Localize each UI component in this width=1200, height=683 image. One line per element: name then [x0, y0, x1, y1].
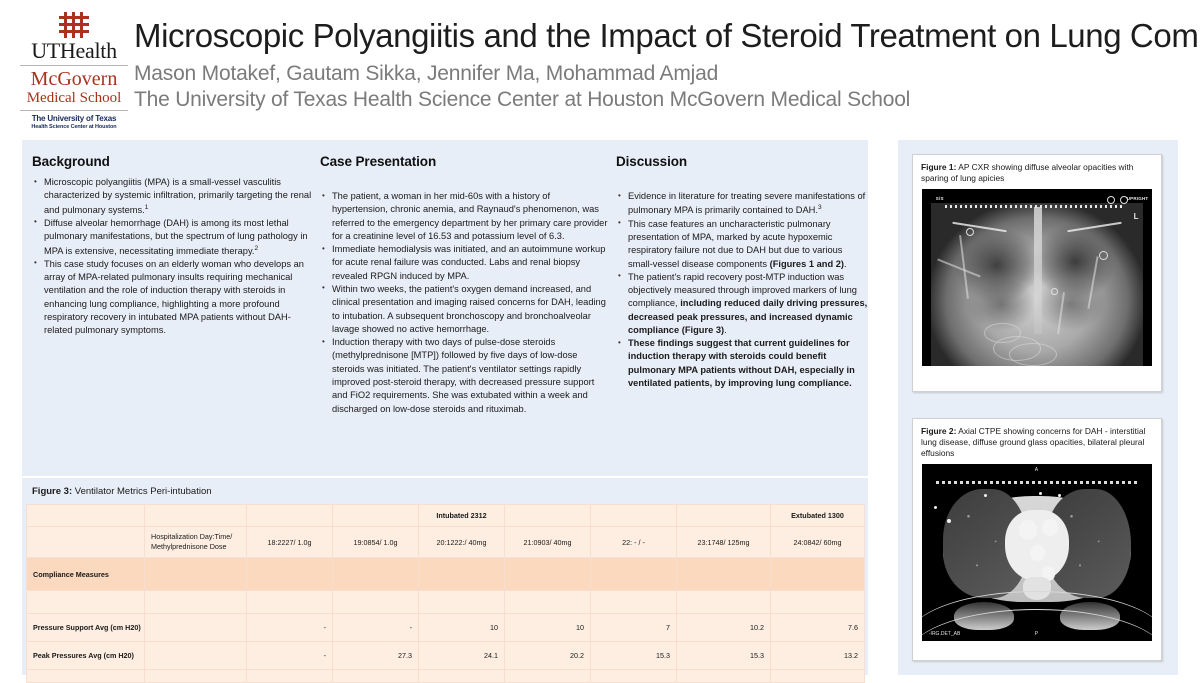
- logo-health-science-center-text: Health Science Center at Houston: [18, 124, 130, 130]
- cxr-spine: [1034, 207, 1042, 334]
- extubated-marker: Extubated 1300: [771, 505, 865, 527]
- empty-cell: [591, 505, 677, 527]
- title-block: Microscopic Polyangiitis and the Impact …: [134, 18, 1174, 112]
- list-item: These findings suggest that current guid…: [616, 337, 868, 390]
- list-item: Induction therapy with two days of pulse…: [320, 336, 608, 416]
- citation-marker: 3: [818, 204, 822, 211]
- empty-cell: [145, 642, 247, 670]
- table-row: [27, 670, 865, 683]
- uthealth-logo: UTHealth McGovern Medical School The Uni…: [18, 12, 130, 130]
- list-item: Immediate hemodialysis was initiated, an…: [320, 243, 608, 283]
- empty-cell: [419, 591, 505, 614]
- case-presentation-heading: Case Presentation: [320, 154, 608, 169]
- metric-value: -: [247, 614, 333, 642]
- author-list: Mason Motakef, Gautam Sikka, Jennifer Ma…: [134, 61, 1174, 87]
- list-item: Microscopic polyangiitis (MPA) is a smal…: [32, 176, 312, 217]
- empty-cell: [771, 591, 865, 614]
- logo-divider-top: [20, 65, 128, 66]
- empty-cell: [505, 670, 591, 683]
- section-case-presentation: Case Presentation The patient, a woman i…: [320, 154, 608, 416]
- intubated-marker: Intubated 2312: [419, 505, 505, 527]
- empty-cell: [27, 527, 145, 558]
- table-row: Pressure Support Avg (cm H20)--1010710.2…: [27, 614, 865, 642]
- empty-cell: [247, 558, 333, 591]
- list-item: The patient, a woman in her mid-60s with…: [320, 190, 608, 243]
- empty-cell: [591, 591, 677, 614]
- empty-cell: [771, 558, 865, 591]
- discussion-bullet-list: Evidence in literature for treating seve…: [616, 190, 868, 390]
- metric-value: -: [333, 614, 419, 642]
- cxr-upright-marker: UPRIGHT: [1127, 196, 1149, 201]
- uthealth-logo-mark-icon: [59, 12, 89, 38]
- metric-value: 7: [591, 614, 677, 642]
- table-row: [27, 591, 865, 614]
- list-item: This case study focuses on an elderly wo…: [32, 258, 312, 338]
- compliance-measures-label: Compliance Measures: [27, 558, 145, 591]
- figure2-ct-scan-image: A -IRG.DET_AB P: [922, 464, 1152, 641]
- column-header: 22: - / -: [591, 527, 677, 558]
- empty-cell: [677, 558, 771, 591]
- figure3-panel: Figure 3: Ventilator Metrics Peri-intuba…: [22, 478, 868, 675]
- affiliation-line: The University of Texas Health Science C…: [134, 87, 1174, 113]
- body-text: .: [724, 325, 727, 335]
- empty-cell: [27, 670, 145, 683]
- empty-cell: [505, 591, 591, 614]
- metric-value: -: [247, 642, 333, 670]
- list-item: Within two weeks, the patient's oxygen d…: [320, 283, 608, 336]
- citation-marker: 2: [254, 245, 258, 252]
- empty-cell: [419, 670, 505, 683]
- empty-cell: [27, 505, 145, 527]
- table-row: Compliance Measures: [27, 558, 865, 591]
- table-row: Intubated 2312Extubated 1300: [27, 505, 865, 527]
- column-header: 24:0842/ 60mg: [771, 527, 865, 558]
- metric-value: 15.3: [591, 642, 677, 670]
- list-item: The patient's rapid recovery post-MTP in…: [616, 271, 868, 337]
- metric-value: 13.2: [771, 642, 865, 670]
- empty-cell: [677, 591, 771, 614]
- empty-cell: [145, 505, 247, 527]
- figure2-card: Figure 2: Axial CTPE showing concerns fo…: [912, 418, 1162, 661]
- empty-cell: [333, 670, 419, 683]
- background-heading: Background: [32, 154, 312, 169]
- figure2-caption: Figure 2: Axial CTPE showing concerns fo…: [913, 419, 1161, 464]
- metric-value: 10: [505, 614, 591, 642]
- section-background: Background Microscopic polyangiitis (MPA…: [32, 154, 312, 338]
- empty-cell: [505, 505, 591, 527]
- empty-cell: [247, 670, 333, 683]
- column-header: 21:0903/ 40mg: [505, 527, 591, 558]
- empty-cell: [145, 591, 247, 614]
- ct-ruler-icon: [936, 481, 1138, 484]
- list-item: This case features an uncharacteristic p…: [616, 218, 868, 271]
- ct-anterior-marker: A: [1035, 467, 1038, 473]
- logo-university-text: The University of Texas: [18, 114, 130, 124]
- figure1-caption: Figure 1: AP CXR showing diffuse alveola…: [913, 155, 1161, 189]
- hospitalization-day-header: Hospitalization Day:Time/Methylprednison…: [145, 527, 247, 558]
- ventilator-metrics-table: Intubated 2312Extubated 1300Hospitalizat…: [26, 504, 865, 683]
- column-header: 18:2227/ 1.0g: [247, 527, 333, 558]
- list-item: Diffuse alveolar hemorrhage (DAH) is amo…: [32, 217, 312, 258]
- ct-detector-marker: -IRG.DET_AB: [929, 631, 960, 637]
- cxr-side-marker: L: [1134, 212, 1139, 221]
- empty-cell: [333, 591, 419, 614]
- page-title: Microscopic Polyangiitis and the Impact …: [134, 18, 1174, 55]
- logo-mcgovern-text: McGovern: [18, 69, 130, 90]
- metric-value: 27.3: [333, 642, 419, 670]
- logo-uthealth-text: UTHealth: [18, 39, 130, 62]
- column-header: 20:1222:/ 40mg: [419, 527, 505, 558]
- body-text: Evidence in literature for treating seve…: [628, 191, 865, 215]
- metric-value: 20.2: [505, 642, 591, 670]
- empty-cell: [145, 670, 247, 683]
- background-bullet-list: Microscopic polyangiitis (MPA) is a smal…: [32, 176, 312, 338]
- figure3-caption-text: Ventilator Metrics Peri-intubation: [72, 486, 211, 497]
- column-header: 19:0854/ 1.0g: [333, 527, 419, 558]
- empty-cell: [145, 558, 247, 591]
- logo-medical-school-text: Medical School: [18, 90, 130, 107]
- emphasis-text: These findings suggest that current guid…: [628, 338, 855, 388]
- empty-cell: [771, 670, 865, 683]
- metric-label: Pressure Support Avg (cm H20): [27, 614, 145, 642]
- discussion-heading: Discussion: [616, 154, 868, 169]
- figures-panel: Figure 1: AP CXR showing diffuse alveola…: [898, 140, 1178, 675]
- figure1-chest-xray-image: UPRIGHT L S/S: [922, 189, 1152, 366]
- metric-value: 24.1: [419, 642, 505, 670]
- empty-cell: [419, 558, 505, 591]
- metric-value: 7.6: [771, 614, 865, 642]
- table-row: Hospitalization Day:Time/Methylprednison…: [27, 527, 865, 558]
- figure1-card: Figure 1: AP CXR showing diffuse alveola…: [912, 154, 1162, 392]
- case-presentation-bullet-list: The patient, a woman in her mid-60s with…: [320, 190, 608, 416]
- metric-value: 10: [419, 614, 505, 642]
- metric-label: Peak Pressures Avg (cm H20): [27, 642, 145, 670]
- body-text: .: [844, 259, 847, 269]
- cxr-ruler-icon: [945, 205, 1124, 208]
- figure3-caption: Figure 3: Ventilator Metrics Peri-intuba…: [32, 486, 212, 497]
- cxr-corner-marker: S/S: [936, 196, 944, 201]
- figure1-label: Figure 1:: [921, 162, 956, 172]
- empty-cell: [145, 614, 247, 642]
- empty-cell: [591, 670, 677, 683]
- empty-cell: [27, 591, 145, 614]
- list-item: Evidence in literature for treating seve…: [616, 190, 868, 218]
- empty-cell: [333, 558, 419, 591]
- section-discussion: Discussion Evidence in literature for tr…: [616, 154, 868, 390]
- poster-header: UTHealth McGovern Medical School The Uni…: [0, 0, 1200, 130]
- empty-cell: [591, 558, 677, 591]
- figure3-caption-label: Figure 3:: [32, 486, 72, 497]
- ct-posterior-marker: P: [1035, 631, 1038, 637]
- emphasis-text: (Figures 1 and 2): [770, 259, 844, 269]
- empty-cell: [333, 505, 419, 527]
- table-row: Peak Pressures Avg (cm H20)-27.324.120.2…: [27, 642, 865, 670]
- empty-cell: [677, 505, 771, 527]
- figure2-label: Figure 2:: [921, 426, 956, 436]
- citation-marker: 1: [145, 204, 149, 211]
- empty-cell: [677, 670, 771, 683]
- empty-cell: [247, 505, 333, 527]
- empty-cell: [247, 591, 333, 614]
- metric-value: 10.2: [677, 614, 771, 642]
- metric-value: 15.3: [677, 642, 771, 670]
- empty-cell: [505, 558, 591, 591]
- logo-divider-bottom: [20, 110, 128, 111]
- hospitalization-day-header-text: Hospitalization Day:Time/Methylprednison…: [151, 532, 240, 551]
- column-header: 23:1748/ 125mg: [677, 527, 771, 558]
- content-panel: Background Microscopic polyangiitis (MPA…: [22, 140, 868, 476]
